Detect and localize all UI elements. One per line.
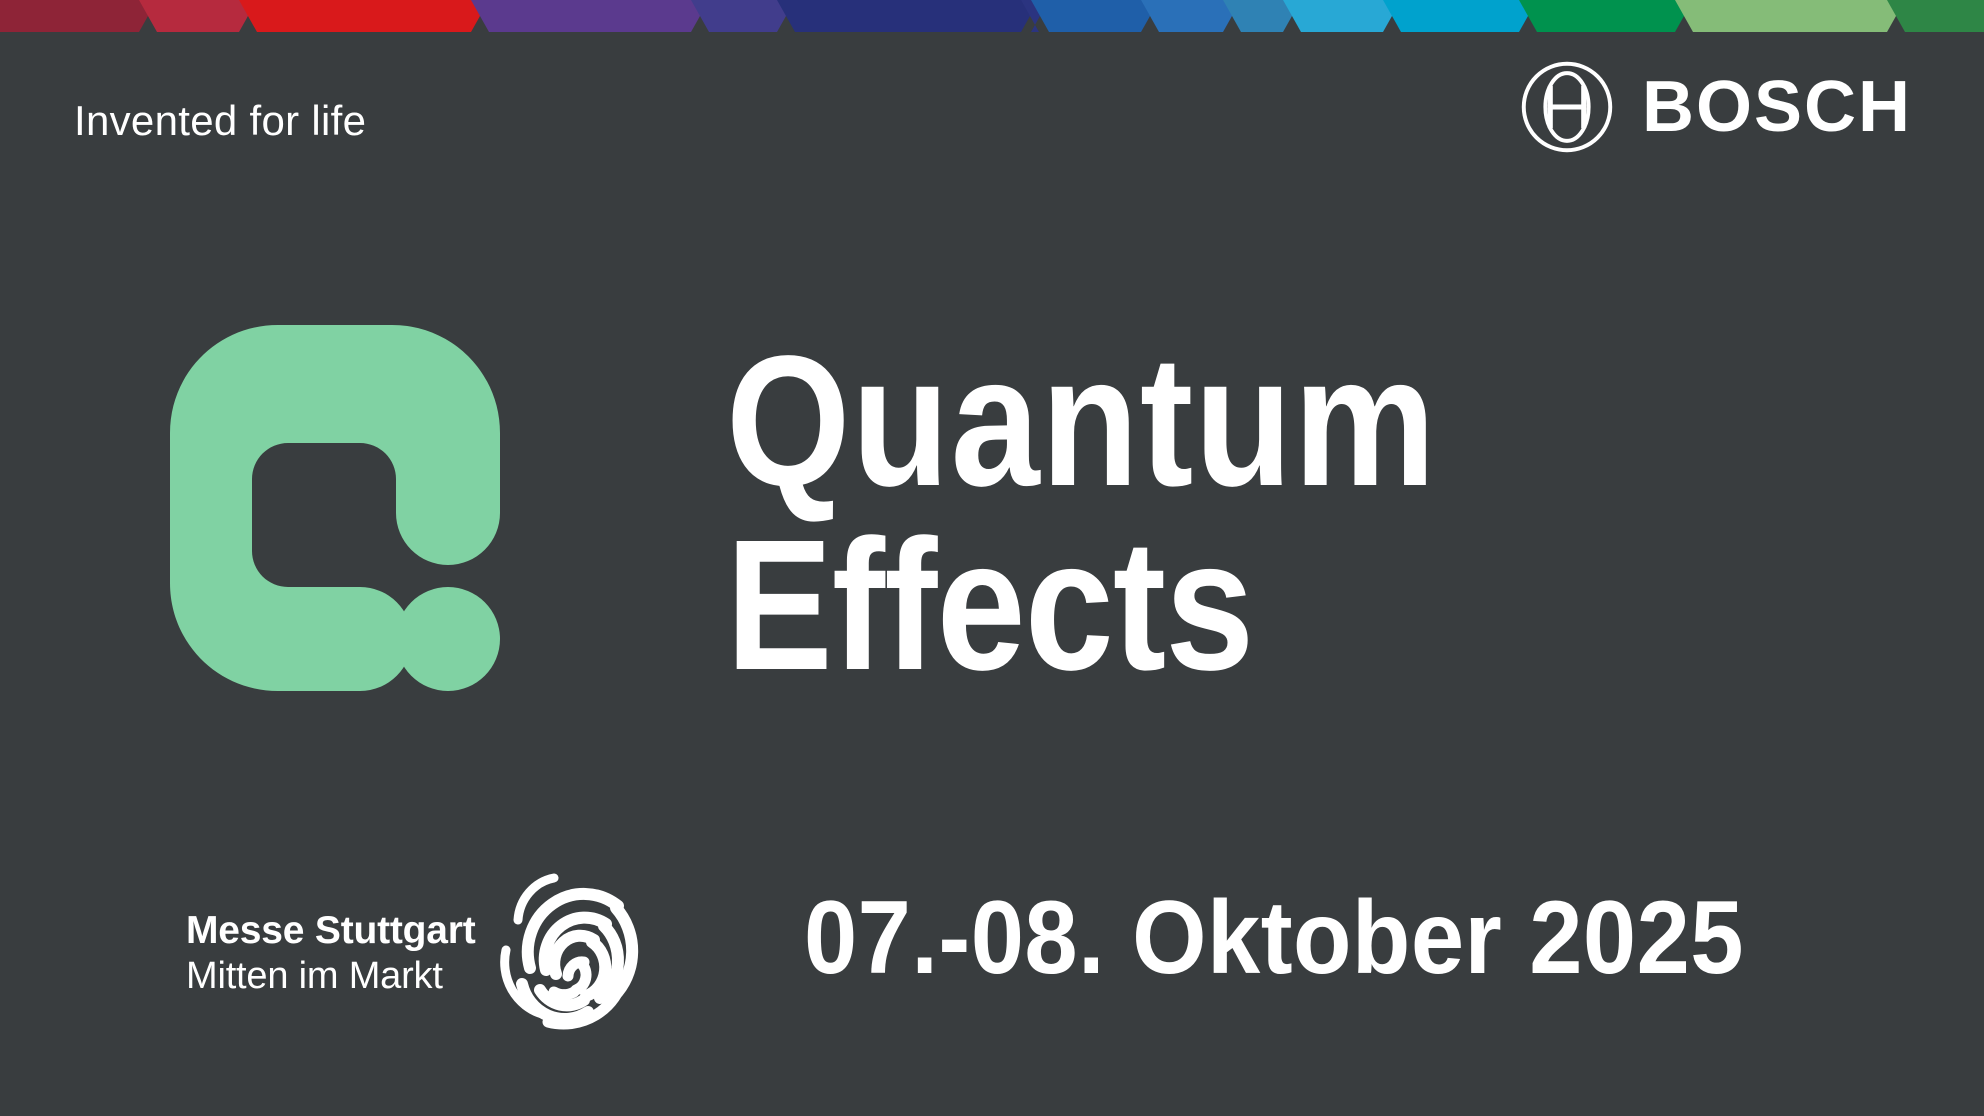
title-line-quantum: Quantum (726, 330, 1437, 514)
event-banner: Invented for life BOSCH Quantum Effects … (0, 0, 1984, 1116)
supergraphic-segment-cyan (1383, 0, 1537, 32)
supergraphic-segment-violet (471, 0, 709, 32)
page-title: Quantum Effects (726, 330, 1553, 698)
supergraphic-segment-indigo (691, 0, 795, 32)
messe-stuttgart-wordmark: Messe Stuttgart Mitten im Markt (186, 908, 476, 999)
bosch-anker-symbol (1520, 60, 1614, 154)
venue-tagline: Mitten im Markt (186, 954, 476, 999)
supergraphic-segment-crimson (139, 0, 257, 32)
supergraphic-segment-light-green (1675, 0, 1905, 32)
venue-name: Messe Stuttgart (186, 908, 476, 954)
messe-stuttgart-fingerprint-s-icon (496, 872, 646, 1034)
supergraphic-segment-dark-maroon (0, 0, 157, 32)
title-line-effects: Effects (726, 514, 1437, 698)
bosch-supergraphic-bar (0, 0, 1984, 32)
supergraphic-segment-deep-navy (777, 0, 1039, 32)
messe-stuttgart-logo: Messe Stuttgart Mitten im Markt (186, 872, 646, 1034)
supergraphic-segment-dark-green (1887, 0, 1984, 32)
supergraphic-segment-green (1519, 0, 1693, 32)
supergraphic-segment-red (239, 0, 489, 32)
event-date: 07.-08. Oktober 2025 (804, 886, 1744, 990)
bosch-logo: BOSCH (1520, 60, 1912, 154)
bosch-claim: Invented for life (74, 100, 366, 142)
bosch-wordmark: BOSCH (1642, 71, 1912, 143)
supergraphic-segment-sky-blue (1283, 0, 1401, 32)
quantum-effects-q-mark (170, 325, 595, 755)
supergraphic-segment-blue (1031, 0, 1159, 32)
